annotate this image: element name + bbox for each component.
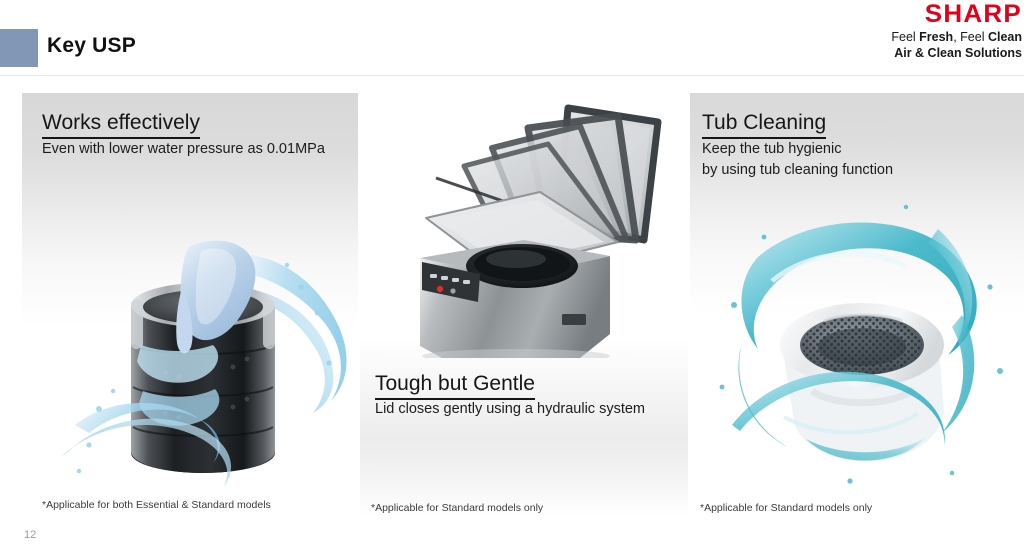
panel-1-footnote: *Applicable for both Essential & Standar… — [42, 499, 271, 511]
panel-2-subline: Lid closes gently using a hydraulic syst… — [375, 399, 645, 420]
panel-3-subline-1: Keep the tub hygienic — [702, 139, 841, 160]
top-load-washer-soft-close-lid-image — [420, 100, 670, 358]
panel-2-headline: Tough but Gentle — [375, 371, 535, 400]
tagline-feel-a: Feel — [891, 30, 919, 44]
panel-3-subline-2: by using tub cleaning function — [702, 160, 893, 181]
slide-number: 12 — [24, 529, 36, 541]
panel-2-footnote: *Applicable for Standard models only — [371, 502, 543, 514]
title-divider — [0, 75, 1024, 76]
perforated-tub-water-swirl-image — [700, 185, 1020, 490]
title-accent-swatch — [0, 29, 38, 67]
washer-drum-water-splash-image — [55, 195, 355, 495]
panel-1-subline: Even with lower water pressure as 0.01MP… — [42, 139, 325, 160]
tagline-feel-b: , Feel — [953, 30, 988, 44]
panel-3-headline: Tub Cleaning — [702, 110, 826, 139]
brand-block: SHARP Feel Fresh, Feel Clean Air & Clean… — [846, 0, 1024, 61]
brand-tagline-line2: Air & Clean Solutions — [846, 45, 1022, 61]
panel-3-footnote: *Applicable for Standard models only — [700, 502, 872, 514]
tagline-clean: Clean — [988, 30, 1022, 44]
sharp-logo: SHARP — [839, 0, 1022, 27]
page-title: Key USP — [47, 34, 136, 58]
brand-tagline-line1: Feel Fresh, Feel Clean — [846, 29, 1022, 45]
panel-1-headline: Works effectively — [42, 110, 200, 139]
tagline-fresh: Fresh — [919, 30, 953, 44]
